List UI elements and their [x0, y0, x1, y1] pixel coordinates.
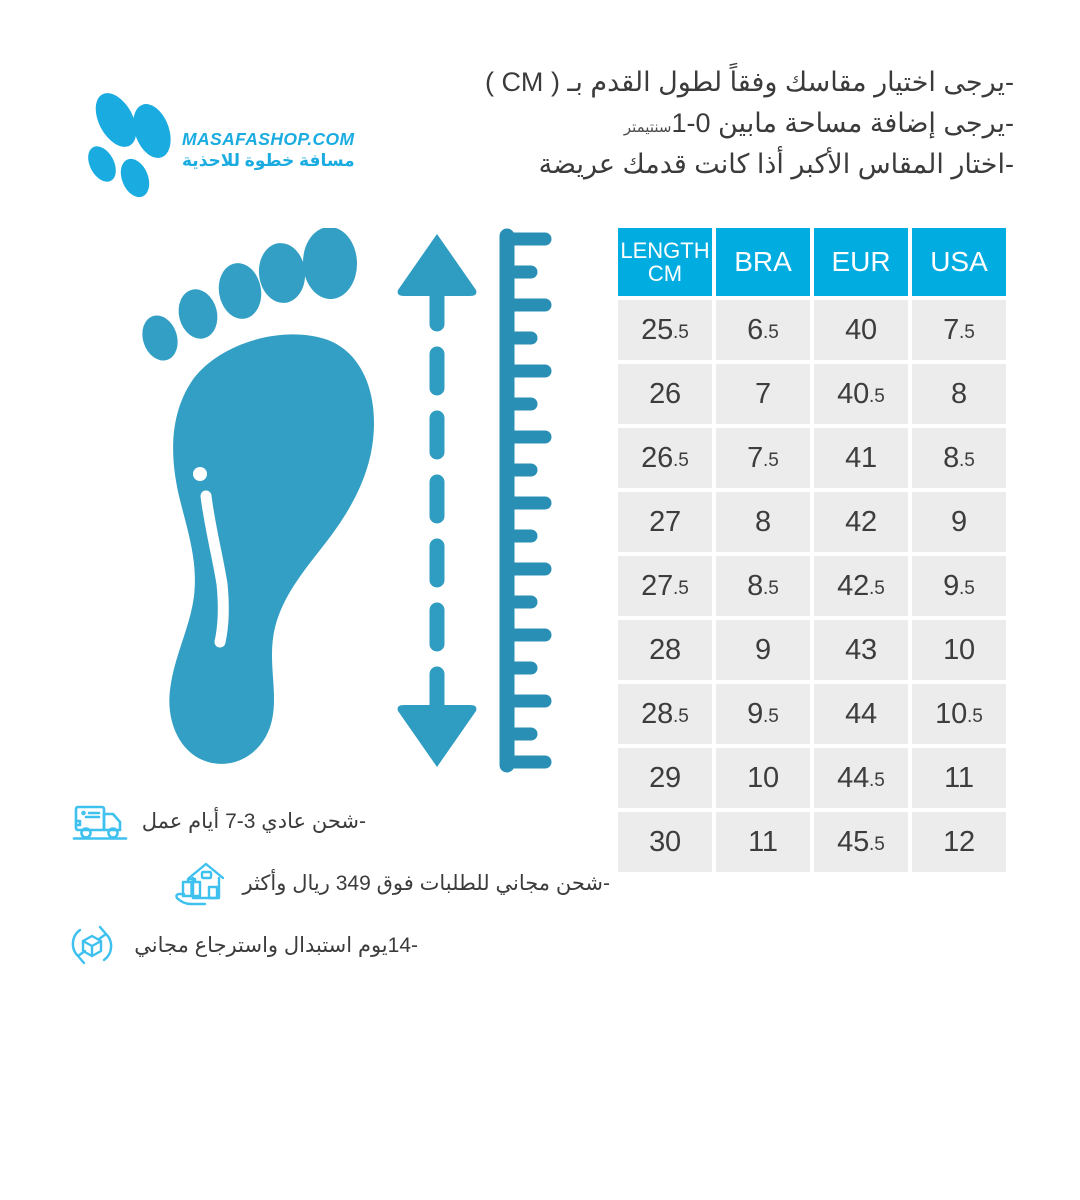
table-cell-usa: 8.5 [912, 428, 1006, 488]
cell-whole-part: 27 [649, 506, 681, 539]
shipping-info-item-standard: -شحن عادي 3-7 أيام عمل [85, 795, 610, 847]
cell-whole-part: 40 [837, 378, 869, 411]
brand-logo-text: MASAFASHOP.COM مسافة خطوة للاحذية [182, 130, 372, 171]
cell-whole-part: 44 [837, 762, 869, 795]
cell-whole-part: 40 [845, 314, 877, 347]
table-cell-length: 26.5 [618, 428, 712, 488]
table-cell-bra: 7 [716, 364, 810, 424]
table-row: 26.57.5418.5 [618, 428, 1014, 488]
table-cell-length: 26 [618, 364, 712, 424]
table-cell-eur: 43 [814, 620, 908, 680]
table-cell-usa: 11 [912, 748, 1006, 808]
table-cell-usa: 9.5 [912, 556, 1006, 616]
cell-whole-part: 8 [943, 442, 959, 475]
cell-whole-part: 42 [845, 506, 877, 539]
cell-whole-part: 25 [641, 314, 673, 347]
cell-whole-part: 28 [641, 698, 673, 731]
instruction-line-3: -اختار المقاس الأكبر أذا كانت قدمك عريضة [394, 144, 1014, 185]
table-header-length-line2: CM [648, 262, 682, 285]
table-cell-bra: 8 [716, 492, 810, 552]
table-cell-bra: 10 [716, 748, 810, 808]
cell-fraction-part: .5 [967, 706, 983, 728]
table-cell-length: 27 [618, 492, 712, 552]
table-row: 301145.512 [618, 812, 1014, 872]
cell-fraction-part: .5 [763, 706, 779, 728]
shipping-info-item-return: -14يوم استبدال واسترجاع مجاني [85, 919, 610, 971]
cell-whole-part: 26 [649, 378, 681, 411]
table-header-eur: EUR [814, 228, 908, 296]
cell-whole-part: 44 [845, 698, 877, 731]
table-cell-bra: 7.5 [716, 428, 810, 488]
cell-whole-part: 10 [943, 634, 975, 667]
table-cell-usa: 10.5 [912, 684, 1006, 744]
cell-fraction-part: .5 [869, 578, 885, 600]
cell-whole-part: 10 [747, 762, 779, 795]
table-header-length-line1: LENGTH [620, 239, 709, 262]
brand-logo: MASAFASHOP.COM مسافة خطوة للاحذية [78, 90, 368, 202]
shipping-info-list: -شحن عادي 3-7 أيام عمل -شحن مجاني للطلبا… [85, 795, 610, 981]
cell-fraction-part: .5 [763, 578, 779, 600]
table-cell-length: 30 [618, 812, 712, 872]
home-delivery-hand-icon [173, 857, 229, 909]
cell-fraction-part: .5 [869, 386, 885, 408]
cell-whole-part: 28 [649, 634, 681, 667]
cell-whole-part: 8 [951, 378, 967, 411]
table-cell-bra: 9 [716, 620, 810, 680]
brand-name-latin: MASAFASHOP.COM [182, 130, 372, 150]
cell-fraction-part: .5 [673, 450, 689, 472]
table-header-length: LENGTH CM [618, 228, 712, 296]
table-cell-usa: 8 [912, 364, 1006, 424]
header-instructions: -يرجى اختيار مقاسك وفقاً لطول القدم بـ (… [394, 62, 1014, 185]
table-cell-bra: 6.5 [716, 300, 810, 360]
cell-whole-part: 30 [649, 826, 681, 859]
table-cell-eur: 41 [814, 428, 908, 488]
table-cell-bra: 9.5 [716, 684, 810, 744]
table-cell-length: 25.5 [618, 300, 712, 360]
cell-whole-part: 11 [944, 762, 974, 795]
cell-whole-part: 7 [943, 314, 959, 347]
cell-whole-part: 9 [951, 506, 967, 539]
cell-whole-part: 12 [943, 826, 975, 859]
table-cell-usa: 10 [912, 620, 1006, 680]
table-header-row: LENGTH CM BRA EUR USA [618, 228, 1014, 296]
table-cell-eur: 44 [814, 684, 908, 744]
cell-whole-part: 7 [747, 442, 763, 475]
cell-whole-part: 45 [837, 826, 869, 859]
cell-whole-part: 7 [755, 378, 771, 411]
cell-fraction-part: .5 [959, 578, 975, 600]
cell-whole-part: 10 [935, 698, 967, 731]
ruler-icon [495, 228, 555, 773]
shipping-return-text: -14يوم استبدال واسترجاع مجاني [134, 933, 418, 958]
cell-fraction-part: .5 [673, 578, 689, 600]
cell-whole-part: 43 [845, 634, 877, 667]
table-cell-length: 27.5 [618, 556, 712, 616]
table-row: 28.59.54410.5 [618, 684, 1014, 744]
table-cell-eur: 42.5 [814, 556, 908, 616]
table-cell-length: 28 [618, 620, 712, 680]
instruction-line-2-text: -يرجى إضافة مساحة مابين 0-1 [671, 108, 1014, 138]
table-cell-eur: 40.5 [814, 364, 908, 424]
cell-fraction-part: .5 [869, 770, 885, 792]
cell-whole-part: 6 [747, 314, 763, 347]
instruction-line-2: -يرجى إضافة مساحة مابين 0-1سنتيمتر [394, 103, 1014, 144]
table-row: 2894310 [618, 620, 1014, 680]
footprint-icon [132, 228, 382, 788]
cell-whole-part: 11 [748, 826, 778, 859]
table-cell-bra: 11 [716, 812, 810, 872]
table-cell-eur: 40 [814, 300, 908, 360]
table-body: 25.56.5407.526740.5826.57.5418.527842927… [618, 300, 1014, 872]
table-row: 25.56.5407.5 [618, 300, 1014, 360]
shipping-free-text: -شحن مجاني للطلبات فوق 349 ريال وأكثر [243, 871, 611, 896]
table-row: 27.58.542.59.5 [618, 556, 1014, 616]
cell-fraction-part: .5 [763, 322, 779, 344]
shipping-info-item-free: -شحن مجاني للطلبات فوق 349 ريال وأكثر [85, 857, 610, 909]
shoe-size-table: LENGTH CM BRA EUR USA 25.56.5407.526740.… [618, 228, 1014, 876]
table-cell-eur: 42 [814, 492, 908, 552]
table-cell-usa: 12 [912, 812, 1006, 872]
cell-whole-part: 41 [845, 442, 877, 475]
table-header-bra: BRA [716, 228, 810, 296]
cell-whole-part: 9 [755, 634, 771, 667]
table-row: 278429 [618, 492, 1014, 552]
table-cell-length: 29 [618, 748, 712, 808]
cell-fraction-part: .5 [959, 450, 975, 472]
cell-fraction-part: .5 [959, 322, 975, 344]
table-row: 26740.58 [618, 364, 1014, 424]
cell-fraction-part: .5 [763, 450, 779, 472]
cell-whole-part: 9 [747, 698, 763, 731]
return-box-icon [64, 919, 120, 971]
cell-whole-part: 27 [641, 570, 673, 603]
table-cell-bra: 8.5 [716, 556, 810, 616]
cell-fraction-part: .5 [673, 706, 689, 728]
cell-whole-part: 26 [641, 442, 673, 475]
shipping-standard-text: -شحن عادي 3-7 أيام عمل [142, 809, 366, 834]
cell-fraction-part: .5 [673, 322, 689, 344]
brand-name-arabic: مسافة خطوة للاحذية [182, 151, 372, 171]
table-row: 291044.511 [618, 748, 1014, 808]
footprint-ellipses-icon [78, 90, 190, 200]
double-headed-dashed-arrow-icon [392, 228, 482, 773]
delivery-truck-icon [72, 795, 128, 847]
cell-whole-part: 8 [755, 506, 771, 539]
table-cell-usa: 7.5 [912, 300, 1006, 360]
cell-whole-part: 8 [747, 570, 763, 603]
table-cell-eur: 44.5 [814, 748, 908, 808]
cell-whole-part: 9 [943, 570, 959, 603]
instruction-unit-label: سنتيمتر [624, 119, 672, 136]
table-cell-eur: 45.5 [814, 812, 908, 872]
table-header-usa: USA [912, 228, 1006, 296]
cell-whole-part: 42 [837, 570, 869, 603]
cell-whole-part: 29 [649, 762, 681, 795]
cell-fraction-part: .5 [869, 834, 885, 856]
instruction-line-1: -يرجى اختيار مقاسك وفقاً لطول القدم بـ (… [394, 62, 1014, 103]
table-cell-length: 28.5 [618, 684, 712, 744]
table-cell-usa: 9 [912, 492, 1006, 552]
